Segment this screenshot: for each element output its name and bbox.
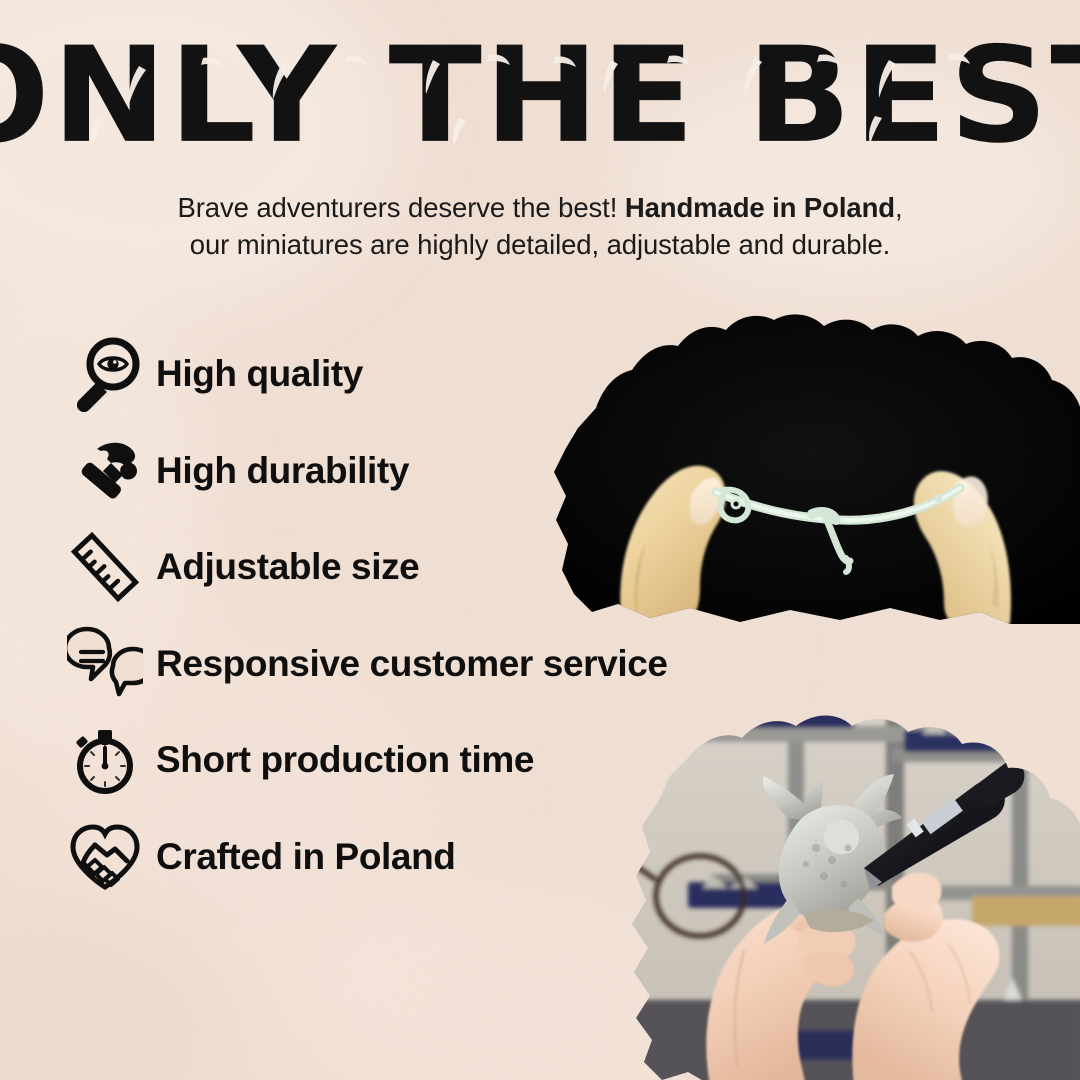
feature-item-high-durability: High durability — [62, 423, 822, 520]
feature-label: Adjustable size — [156, 546, 419, 588]
feature-label: Responsive customer service — [156, 643, 668, 685]
feature-item-adjustable-size: Adjustable size — [62, 519, 822, 616]
subtitle-line-1: Brave adventurers deserve the best! Hand… — [0, 190, 1080, 227]
heart-handshake-icon — [62, 814, 148, 900]
magnifier-eye-icon — [62, 331, 148, 417]
background-wash — [0, 900, 240, 1080]
hammer-icon — [62, 428, 148, 514]
feature-label: Crafted in Poland — [156, 836, 456, 878]
feature-label: Short production time — [156, 739, 534, 781]
headline-container: ONLY THE BEST — [0, 36, 1080, 154]
feature-item-high-quality: High quality — [62, 326, 822, 423]
subtitle-line-2: our miniatures are highly detailed, adju… — [0, 227, 1080, 264]
speech-bubbles-icon — [62, 621, 148, 707]
ruler-icon — [62, 524, 148, 610]
feature-item-crafted-in-poland: Crafted in Poland — [62, 809, 822, 906]
stopwatch-icon — [62, 717, 148, 803]
subtitle: Brave adventurers deserve the best! Hand… — [0, 190, 1080, 263]
feature-label: High durability — [156, 450, 409, 492]
feature-list: High quality High durability — [62, 326, 822, 905]
subtitle-emphasis: Handmade in Poland — [625, 192, 895, 223]
feature-label: High quality — [156, 353, 363, 395]
subtitle-tail: , — [895, 192, 903, 223]
promo-canvas: ONLY THE BEST Brave adventurers deserve … — [0, 0, 1080, 1080]
page-title: ONLY THE BEST — [0, 29, 1080, 161]
feature-item-short-production-time: Short production time — [62, 712, 822, 809]
subtitle-lead: Brave adventurers deserve the best! — [177, 192, 624, 223]
feature-item-responsive-customer-service: Responsive customer service — [62, 616, 822, 713]
